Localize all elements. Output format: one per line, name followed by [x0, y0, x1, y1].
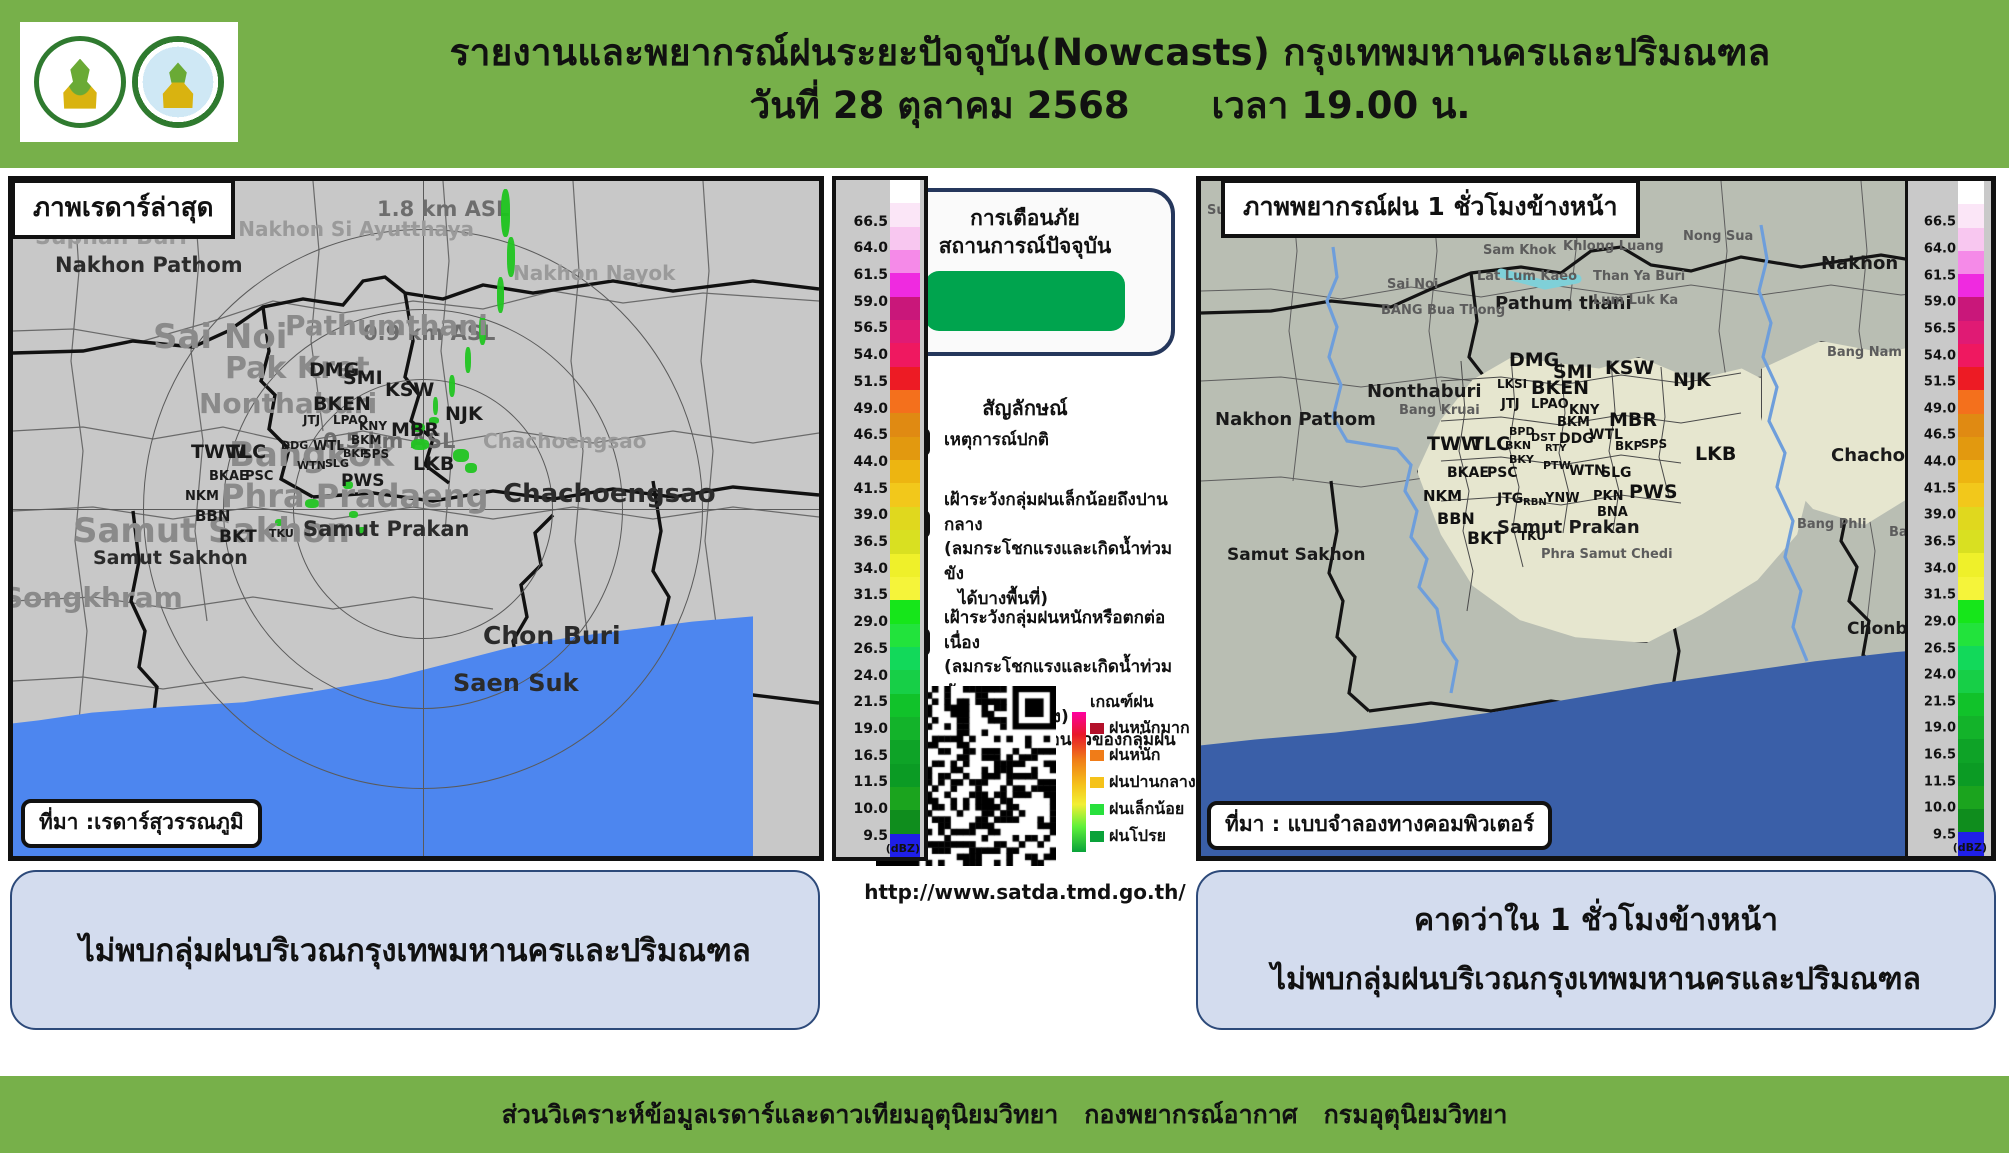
fc-label-nonthaburi: Nonthaburi: [1367, 381, 1482, 402]
code-BKT: BKT: [219, 527, 257, 547]
radar-echo: [465, 463, 477, 473]
nowcast-report-page: รายงานและพยากรณ์ฝนระยะปัจจุบัน(Nowcasts)…: [0, 0, 2009, 1153]
forecast-colorbar-ticks: 66.564.061.559.056.554.051.549.046.544.0…: [1908, 181, 1958, 856]
radar-panel-tag: ภาพเรดาร์ล่าสุด: [11, 179, 235, 239]
label-pathumthani: Pathumthani: [285, 309, 488, 342]
fc-code-RTY: RTY: [1545, 443, 1566, 454]
fc-code-BKAE: BKAE: [1447, 465, 1489, 481]
rain-intensity-scale: เกณฑ์ฝน ฝนหนักมากฝนหนักฝนปานกลางฝนเล็กน้…: [1072, 690, 1202, 715]
label-chachoengsao-grey: Chachoengsao: [483, 429, 647, 453]
legend-text-normal: เหตุการณ์ปกติ: [944, 428, 1049, 453]
forecast-colorbar: 66.564.061.559.056.554.051.549.046.544.0…: [1905, 181, 1991, 856]
fc-small-sam-khok: Sam Khok: [1483, 243, 1556, 258]
fc-code-LPAO: LPAO: [1531, 397, 1569, 412]
summary-forecast-line2: ไม่พบกลุ่มฝนบริเวณกรุงเทพมหานครและปริมณฑ…: [1271, 956, 1921, 1003]
code-BKEN: BKEN: [313, 393, 371, 415]
forecast-panel-tag: ภาพพยากรณ์ฝน 1 ชั่วโมงข้างหน้า: [1221, 179, 1640, 238]
label-nakhon-pathom: Nakhon Pathom: [55, 253, 243, 277]
fc-small-bang-bua-thong: BANG Bua Thong: [1381, 303, 1505, 318]
rain-scale-chip: [1090, 723, 1104, 734]
label-samut-prakan: Samut Prakan: [303, 517, 469, 541]
fc-code-PSC: PSC: [1487, 465, 1518, 481]
code-NJK: NJK: [445, 403, 483, 425]
fc-code-DMG: DMG: [1509, 349, 1559, 371]
legend-line: เฝ้าระวังกลุ่มฝนเล็กน้อยถึงปานกลาง: [944, 488, 1190, 537]
report-date: วันที่ 28 ตุลาคม 2568: [749, 84, 1129, 127]
fc-code-BKN: BKN: [1505, 439, 1531, 452]
legend-line: เฝ้าระวังกลุ่มฝนหนักหรือตกต่อเนื่อง: [944, 606, 1190, 655]
code-BKAE: BKAE: [209, 469, 248, 484]
code-PWS: PWS: [341, 471, 384, 491]
alert-status-pill: [925, 271, 1125, 331]
fc-small-sai-noi: Sai Noi: [1387, 277, 1438, 292]
fc-code-BKEN: BKEN: [1531, 377, 1589, 399]
fc-code-BKM: BKM: [1557, 415, 1590, 430]
radar-image-panel[interactable]: 1.8 km ASL 0.9 km ASL 0.5 km ASL Suphan …: [8, 176, 824, 861]
footer-part3: กรมอุตุนิยมวิทยา: [1324, 1100, 1508, 1129]
radar-echo: [453, 449, 469, 462]
website-url[interactable]: http://www.satda.tmd.go.th/: [860, 880, 1190, 904]
fc-code-JTG: JTG: [1497, 491, 1523, 507]
label-samut-sakhon: Samut Sakhon: [93, 547, 248, 569]
page-title-line2: วันที่ 28 ตุลาคม 2568 เวลา 19.00 น.: [260, 78, 1960, 134]
alert-title-line2: สถานการณ์ปัจจุบัน: [939, 232, 1112, 260]
label-chon-buri: Chon Buri: [483, 621, 621, 650]
fc-small-bang-kruai: Bang Kruai: [1399, 403, 1480, 418]
fc-code-LKSI: LKSI: [1497, 377, 1527, 391]
fc-code-PKN: PKN: [1593, 489, 1623, 504]
rain-scale-label: ฝนหนักมาก: [1109, 716, 1190, 741]
code-KNY: KNY: [359, 419, 387, 433]
rain-scale-chip: [1090, 831, 1104, 842]
label-nakhon-nayok: Nakhon Nayok: [513, 261, 675, 285]
radar-echo: [449, 375, 455, 397]
legend-line: เหตุการณ์ปกติ: [944, 430, 1049, 450]
radar-echo: [465, 347, 471, 373]
fc-label-nakhon-pathom: Nakhon Pathom: [1215, 409, 1376, 430]
rain-scale-chip: [1090, 750, 1104, 761]
fc-code-BKT: BKT: [1467, 529, 1505, 549]
fc-small-nong-sua: Nong Sua: [1683, 229, 1753, 244]
royal-irrigation-seal-icon: [34, 36, 126, 128]
legend-line: (ลมกระโชกแรงและเกิดน้ำท่วมขัง: [944, 537, 1190, 586]
label-songkhram: Songkhram: [8, 581, 183, 614]
code-WTL: WTL: [313, 439, 345, 454]
radar-colorbar-unit: (dBZ): [886, 842, 920, 855]
page-title-line1: รายงานและพยากรณ์ฝนระยะปัจจุบัน(Nowcasts)…: [260, 28, 1960, 78]
fc-code-BBN: BBN: [1437, 509, 1475, 528]
alert-title: การเตือนภัย สถานการณ์ปัจจุบัน: [939, 204, 1112, 261]
code-TLC: TLC: [227, 441, 266, 463]
code-DDG: DDG: [281, 439, 308, 452]
main-content: 1.8 km ASL 0.9 km ASL 0.5 km ASL Suphan …: [0, 168, 2009, 1076]
forecast-source-tag: ที่มา : แบบจำลองทางคอมพิวเตอร์: [1207, 801, 1552, 850]
summary-current: ไม่พบกลุ่มฝนบริเวณกรุงเทพมหานครและปริมณฑ…: [10, 870, 820, 1030]
fc-code-PTW: PTW: [1543, 459, 1571, 472]
code-NKM: NKM: [185, 489, 219, 504]
forecast-image-panel[interactable]: Suphan Buri Phra Nakhon Si Ayutthaya Nak…: [1196, 176, 1996, 861]
logo-box: [20, 22, 238, 142]
page-header: รายงานและพยากรณ์ฝนระยะปัจจุบัน(Nowcasts)…: [0, 0, 2009, 168]
label-saen-suk: Saen Suk: [453, 669, 579, 697]
thai-meteorological-department-seal-icon: [132, 36, 224, 128]
fc-code-SPS: SPS: [1641, 437, 1667, 451]
code-MBR: MBR: [391, 419, 439, 441]
fc-small-khlong-luang: Khlong Luang: [1563, 239, 1664, 254]
code-BBN: BBN: [195, 507, 230, 525]
summary-current-text: ไม่พบกลุ่มฝนบริเวณกรุงเทพมหานครและปริมณฑ…: [79, 925, 751, 975]
fc-small-lat-lum-kaeo: Lat Lum Kaeo: [1477, 269, 1577, 284]
rain-scale-item: ฝนหนักมาก: [1090, 716, 1190, 741]
code-JTJ: JTJ: [303, 413, 320, 427]
code-BKM: BKM: [351, 433, 381, 447]
code-WTN: WTN: [297, 459, 326, 472]
fc-code-BKP: BKP: [1615, 439, 1642, 453]
code-KSW: KSW: [385, 379, 434, 401]
footer-part2: กองพยากรณ์อากาศ: [1084, 1100, 1297, 1129]
fc-code-YNW: YNW: [1545, 491, 1580, 506]
rain-scale-label: ฝนปานกลาง: [1109, 770, 1196, 795]
fc-small-bang-phli: Bang Phli: [1797, 517, 1866, 532]
summary-forecast: คาดว่าใน 1 ชั่วโมงข้างหน้า ไม่พบกลุ่มฝนบ…: [1196, 870, 1996, 1030]
fc-small-lum-luk-ka: Lum Luk Ka: [1593, 293, 1678, 308]
rain-scale-gradient: [1072, 712, 1086, 852]
fc-small-phra-samut-chedi: Phra Samut Chedi: [1541, 547, 1673, 562]
fc-code-TKU: TKU: [1519, 529, 1546, 543]
fc-code-NJK: NJK: [1673, 369, 1711, 391]
code-SMI: SMI: [343, 367, 383, 389]
radar-colorbar: 66.564.061.559.056.554.051.549.046.544.0…: [832, 176, 928, 861]
fc-code-LKB: LKB: [1695, 443, 1736, 465]
radar-colorbar-strip: [890, 180, 920, 857]
fc-code-NKM: NKM: [1423, 487, 1462, 505]
rain-scale-item: ฝนหนัก: [1090, 743, 1160, 768]
rain-scale-title: เกณฑ์ฝน: [1090, 690, 1202, 715]
footer-part1: ส่วนวิเคราะห์ข้อมูลเรดาร์และดาวเทียมอุตุ…: [502, 1100, 1059, 1129]
forecast-colorbar-strip: [1958, 181, 1984, 856]
rain-scale-chip: [1090, 777, 1104, 788]
report-time: เวลา 19.00 น.: [1211, 84, 1470, 127]
rain-scale-item: ฝนเล็กน้อย: [1090, 797, 1184, 822]
radar-echo: [497, 277, 504, 313]
page-footer: ส่วนวิเคราะห์ข้อมูลเรดาร์และดาวเทียมอุตุ…: [0, 1076, 2009, 1153]
rain-scale-label: ฝนหนัก: [1109, 743, 1160, 768]
radar-source-tag: ที่มา :เรดาร์สุวรรณภูมิ: [21, 799, 262, 848]
footer-text: ส่วนวิเคราะห์ข้อมูลเรดาร์และดาวเทียมอุตุ…: [502, 1095, 1508, 1135]
forecast-colorbar-unit: (dBZ): [1953, 841, 1987, 854]
legend-text-watch-light: เฝ้าระวังกลุ่มฝนเล็กน้อยถึงปานกลาง (ลมกร…: [944, 488, 1190, 611]
fc-code-JTJ: JTJ: [1501, 397, 1520, 412]
code-LKB: LKB: [413, 453, 454, 475]
rain-scale-label: ฝนเล็กน้อย: [1109, 797, 1184, 822]
page-title: รายงานและพยากรณ์ฝนระยะปัจจุบัน(Nowcasts)…: [260, 28, 1960, 133]
fc-code-SLG: SLG: [1601, 465, 1632, 481]
rain-scale-label: ฝนโปรย: [1109, 824, 1166, 849]
fc-code-BNA: BNA: [1597, 505, 1628, 520]
fc-code-PWS: PWS: [1629, 481, 1678, 503]
label-chachoengsao: Chachoengsao: [503, 479, 716, 509]
fc-code-KSW: KSW: [1605, 357, 1654, 379]
summary-forecast-line1: คาดว่าใน 1 ชั่วโมงข้างหน้า: [1414, 897, 1778, 944]
radar-colorbar-ticks: 66.564.061.559.056.554.051.549.046.544.0…: [836, 180, 890, 857]
rain-scale-item: ฝนโปรย: [1090, 824, 1166, 849]
radar-echo: [501, 189, 510, 237]
fc-label-samut-sakhon: Samut Sakhon: [1227, 545, 1365, 565]
fc-small-than-ya-buri: Than Ya Buri: [1593, 269, 1685, 284]
code-TKU: TKU: [269, 527, 294, 540]
rain-scale-item: ฝนปานกลาง: [1090, 770, 1196, 795]
alert-title-line1: การเตือนภัย: [939, 204, 1112, 232]
fc-code-RBN: RBN: [1523, 497, 1547, 508]
rain-scale-chip: [1090, 804, 1104, 815]
code-PSC: PSC: [245, 469, 273, 484]
code-SLG: SLG: [325, 457, 349, 470]
